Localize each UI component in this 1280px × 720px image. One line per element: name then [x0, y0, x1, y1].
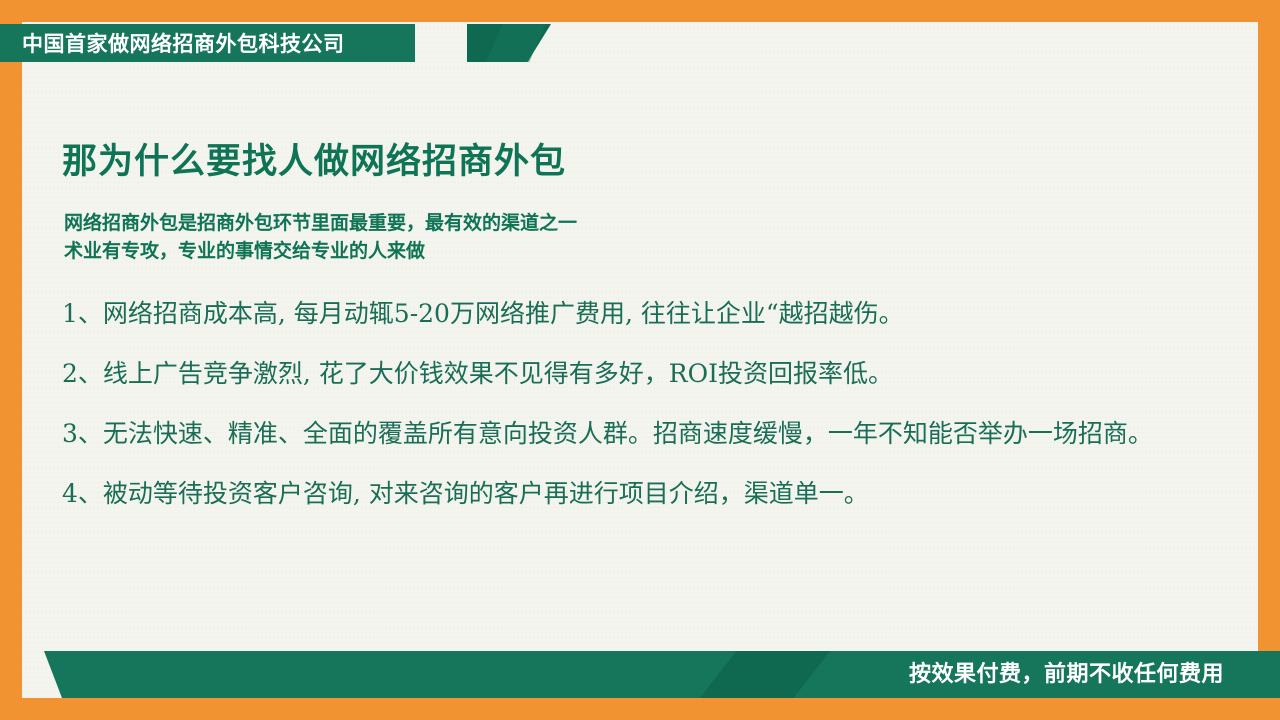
- body-list: 1、网络招商成本高, 每月动辄5-20万网络推广费用, 往往让企业“越招越伤。 …: [62, 295, 1192, 535]
- ribbon-label: 中国首家做网络招商外包科技公司: [22, 28, 345, 58]
- footer-label: 按效果付费，前期不收任何费用: [909, 656, 1224, 688]
- subtitle-line-1: 网络招商外包是招商外包环节里面最重要，最有效的渠道之一: [64, 210, 577, 238]
- list-item: 4、被动等待投资客户咨询, 对来咨询的客户再进行项目介绍，渠道单一。: [62, 475, 1192, 512]
- list-item: 1、网络招商成本高, 每月动辄5-20万网络推广费用, 往往让企业“越招越伤。: [62, 295, 1192, 332]
- subtitle-block: 网络招商外包是招商外包环节里面最重要，最有效的渠道之一 术业有专攻，专业的事情交…: [64, 210, 577, 266]
- list-item: 3、无法快速、精准、全面的覆盖所有意向投资人群。招商速度缓慢，一年不知能否举办一…: [62, 415, 1192, 452]
- page-title: 那为什么要找人做网络招商外包: [62, 133, 566, 184]
- list-item: 2、线上广告竞争激烈, 花了大价钱效果不见得有多好，ROI投资回报率低。: [62, 355, 1192, 392]
- top-ribbon: 中国首家做网络招商外包科技公司: [0, 24, 415, 62]
- slide-root: 中国首家做网络招商外包科技公司 那为什么要找人做网络招商外包 网络招商外包是招商…: [0, 0, 1280, 720]
- subtitle-line-2: 术业有专攻，专业的事情交给专业的人来做: [64, 238, 577, 266]
